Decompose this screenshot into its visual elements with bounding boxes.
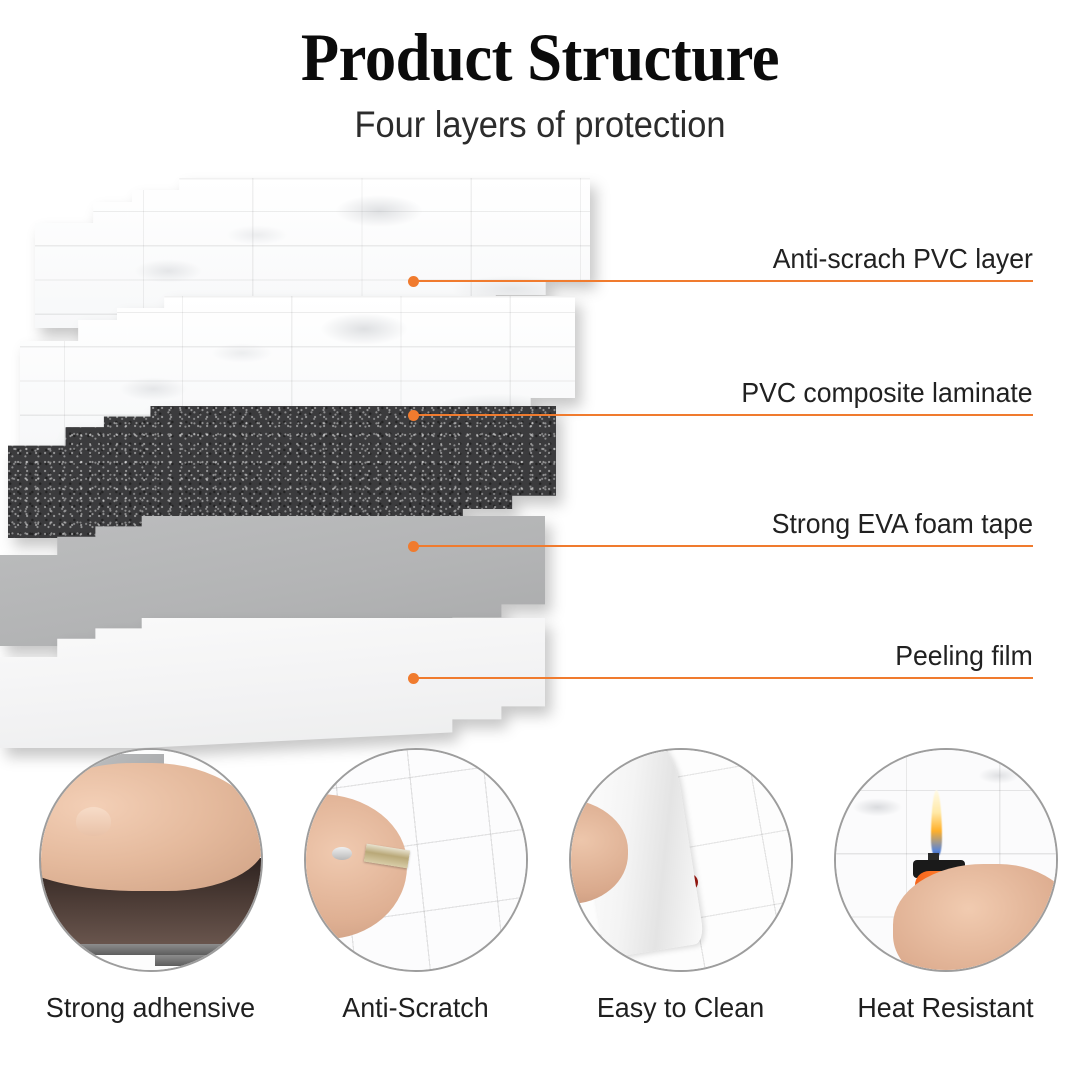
feature-caption-strong-adhesive: Strong adhensive [32,992,269,1024]
callout-label-eva-foam-tape: Strong EVA foam tape [772,508,1033,540]
feature-photo-row: Strong adhensive Anti-Scratch Easy to C [0,748,1080,1080]
callout-leader-line [413,414,1033,416]
hand-pressing-tile-photo [39,748,263,972]
feature-easy-to-clean: Easy to Clean [557,748,804,1024]
feature-caption-anti-scratch: Anti-Scratch [297,992,534,1024]
callout-leader-line [413,545,1033,547]
page-subtitle: Four layers of protection [38,104,1042,146]
callout-leader-line [413,280,1033,282]
callout-leader-line [413,677,1033,679]
feature-heat-resistant: Heat Resistant [822,748,1069,1024]
paper-towel-wiping-ketchup-photo [569,748,793,972]
layer-graphic-peeling-film [0,618,545,748]
feature-anti-scratch: Anti-Scratch [292,748,539,1024]
layer-stack-illustration [0,178,620,738]
feature-strong-adhesive: Strong adhensive [27,748,274,1024]
callout-label-anti-scratch-pvc: Anti-scrach PVC layer [773,243,1033,275]
feature-caption-heat-resistant: Heat Resistant [827,992,1064,1024]
lighter-flame-on-tile-photo [834,748,1058,972]
feature-caption-easy-to-clean: Easy to Clean [562,992,799,1024]
hand-scratching-tile-with-key-photo [304,748,528,972]
callout-label-peeling-film: Peeling film [896,640,1033,672]
callout-label-pvc-composite-laminate: PVC composite laminate [742,377,1033,409]
page-title: Product Structure [43,22,1037,93]
product-structure-infographic: Product Structure Four layers of protect… [0,0,1080,1080]
